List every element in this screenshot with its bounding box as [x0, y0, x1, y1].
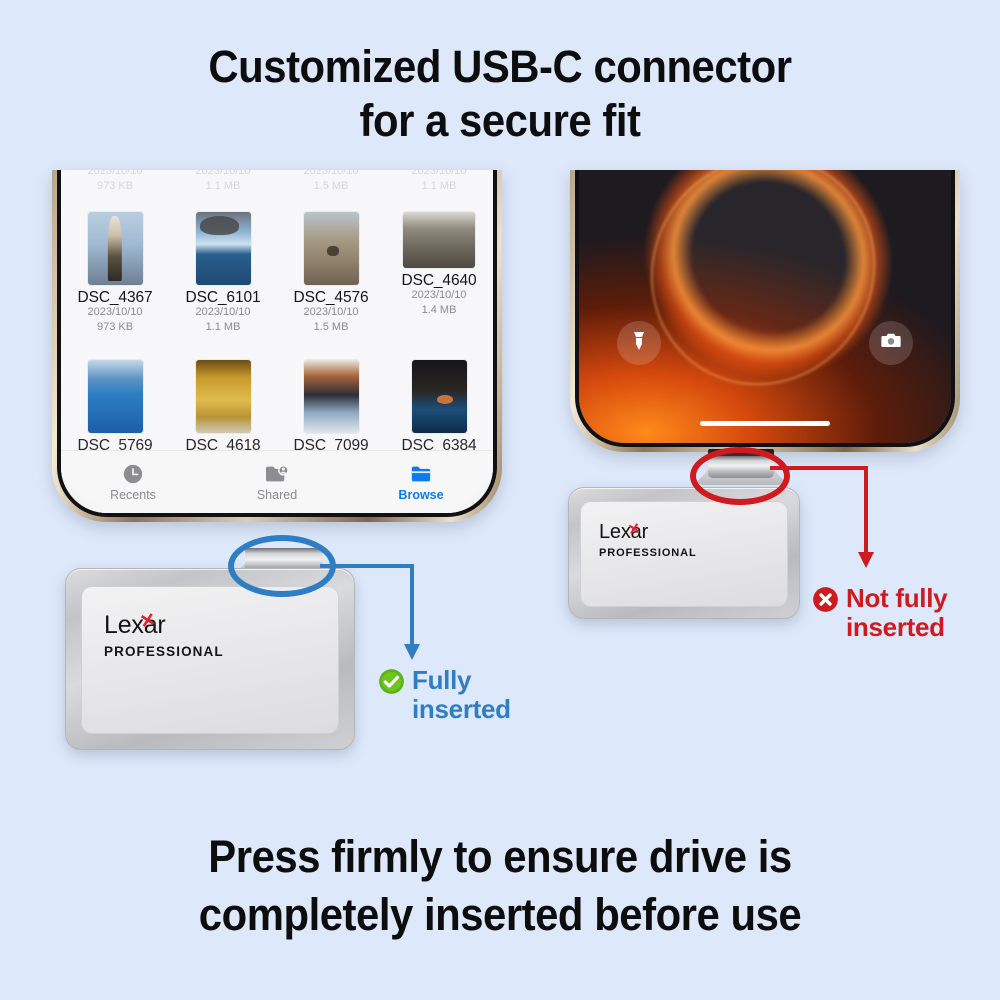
phone-screen-files: 2023/10/10 973 KB 2023/10/10 1.1 MB 2023… — [61, 170, 493, 513]
list-item[interactable]: DSC_7099 — [277, 360, 385, 453]
home-indicator — [700, 421, 830, 426]
list-item[interactable]: 2023/10/10 1.1 MB — [385, 170, 493, 194]
brand-series: PROFESSIONAL — [104, 644, 224, 659]
callout-line-2: inserted — [846, 612, 945, 642]
tab-label: Recents — [110, 488, 156, 502]
callout-text: Fully inserted — [412, 666, 511, 724]
file-date: 2023/10/10 — [411, 288, 466, 303]
flashlight-icon — [631, 331, 647, 356]
brand-series: PROFESSIONAL — [599, 547, 697, 559]
file-date: 2023/10/10 — [87, 305, 142, 320]
file-date: 2023/10/10 — [303, 305, 358, 320]
camera-icon — [881, 332, 901, 354]
file-date: 2023/10/10 — [411, 170, 466, 179]
file-size: 1.5 MB — [314, 179, 349, 194]
tab-bar: Recents Shared Browse — [61, 450, 493, 513]
callout-line-1: Fully — [412, 665, 471, 695]
file-row: DSC_4367 2023/10/10 973 KB DSC_6101 2023… — [61, 212, 493, 335]
lexar-logo: Lexar ✕ PROFESSIONAL — [104, 613, 224, 659]
callout-fully-inserted: Fully inserted — [378, 666, 511, 724]
file-size: 1.1 MB — [206, 320, 241, 335]
ssd-label-panel: Lexar ✕ PROFESSIONAL — [81, 586, 339, 734]
list-item[interactable]: DSC_4367 2023/10/10 973 KB — [61, 212, 169, 335]
callout-line-1: Not fully — [846, 583, 947, 613]
file-thumbnail — [403, 212, 475, 268]
file-row: 2023/10/10 973 KB 2023/10/10 1.1 MB 2023… — [61, 170, 493, 194]
list-item[interactable]: 2023/10/10 1.5 MB — [277, 170, 385, 194]
file-date: 2023/10/10 — [87, 170, 142, 179]
headline-line-1: Customized USB-C connector — [35, 40, 965, 94]
files-app: 2023/10/10 973 KB 2023/10/10 1.1 MB 2023… — [61, 170, 493, 513]
file-date: 2023/10/10 — [195, 305, 250, 320]
file-name: DSC_4367 — [77, 290, 152, 305]
list-item[interactable]: DSC_6384 — [385, 360, 493, 453]
lexar-ssd-right: Lexar ✕ PROFESSIONAL — [568, 487, 800, 619]
callout-text: Not fully inserted — [846, 584, 947, 642]
file-thumbnail — [88, 212, 143, 285]
list-item[interactable]: 2023/10/10 1.1 MB — [169, 170, 277, 194]
callout-line-bad — [770, 456, 900, 576]
list-item[interactable]: DSC_4576 2023/10/10 1.5 MB — [277, 212, 385, 335]
phone-right — [570, 170, 960, 452]
lexar-logo: Lexar ✕ PROFESSIONAL — [599, 522, 697, 559]
tab-browse[interactable]: Browse — [349, 463, 493, 502]
file-date: 2023/10/10 — [303, 170, 358, 179]
list-item[interactable]: DSC_6101 2023/10/10 1.1 MB — [169, 212, 277, 335]
page-title: Customized USB-C connector for a secure … — [35, 40, 965, 148]
callout-line-2: inserted — [412, 694, 511, 724]
error-circle-icon — [812, 586, 839, 613]
infographic-stage: Customized USB-C connector for a secure … — [0, 0, 1000, 1000]
callout-line-good — [320, 548, 470, 668]
file-thumbnail — [304, 212, 359, 285]
phone-screen-lock — [579, 170, 951, 443]
file-thumbnail — [304, 360, 359, 433]
footer-line-1: Press firmly to ensure drive is — [35, 828, 965, 886]
tab-label: Browse — [398, 488, 443, 502]
file-name: DSC_4576 — [293, 290, 368, 305]
camera-button[interactable] — [869, 321, 913, 365]
file-size: 1.4 MB — [422, 303, 457, 318]
list-item[interactable]: DSC_5769 — [61, 360, 169, 453]
file-thumbnail — [88, 360, 143, 433]
tab-shared[interactable]: Shared — [205, 463, 349, 502]
footer-caption: Press firmly to ensure drive is complete… — [35, 828, 965, 944]
callout-not-fully-inserted: Not fully inserted — [812, 584, 947, 642]
folder-icon — [408, 463, 434, 485]
ssd-label-panel: Lexar ✕ PROFESSIONAL — [580, 501, 788, 607]
file-thumbnail — [412, 360, 467, 433]
footer-line-2: completely inserted before use — [35, 886, 965, 944]
lock-screen-wallpaper — [579, 170, 951, 443]
flashlight-button[interactable] — [617, 321, 661, 365]
file-date: 2023/10/10 — [195, 170, 250, 179]
shared-folder-icon — [264, 463, 290, 485]
phone-left: 2023/10/10 973 KB 2023/10/10 1.1 MB 2023… — [52, 170, 502, 522]
file-row: DSC_5769 DSC_4618 DSC_7099 DSC_6384 — [61, 360, 493, 453]
file-name: DSC_6101 — [185, 290, 260, 305]
tab-label: Shared — [257, 488, 297, 502]
file-size: 1.1 MB — [422, 179, 457, 194]
headline-line-2: for a secure fit — [35, 94, 965, 148]
file-size: 973 KB — [97, 320, 133, 335]
file-thumbnail — [196, 360, 251, 433]
check-circle-icon — [378, 668, 405, 695]
file-size: 1.1 MB — [206, 179, 241, 194]
file-thumbnail — [196, 212, 251, 285]
tab-recents[interactable]: Recents — [61, 463, 205, 502]
list-item[interactable]: 2023/10/10 973 KB — [61, 170, 169, 194]
clock-icon — [120, 463, 146, 485]
list-item[interactable]: DSC_4618 — [169, 360, 277, 453]
file-size: 973 KB — [97, 179, 133, 194]
file-size: 1.5 MB — [314, 320, 349, 335]
lexar-ssd-left: Lexar ✕ PROFESSIONAL — [65, 568, 355, 750]
list-item[interactable]: DSC_4640 2023/10/10 1.4 MB — [385, 212, 493, 335]
file-name: DSC_4640 — [401, 273, 476, 288]
